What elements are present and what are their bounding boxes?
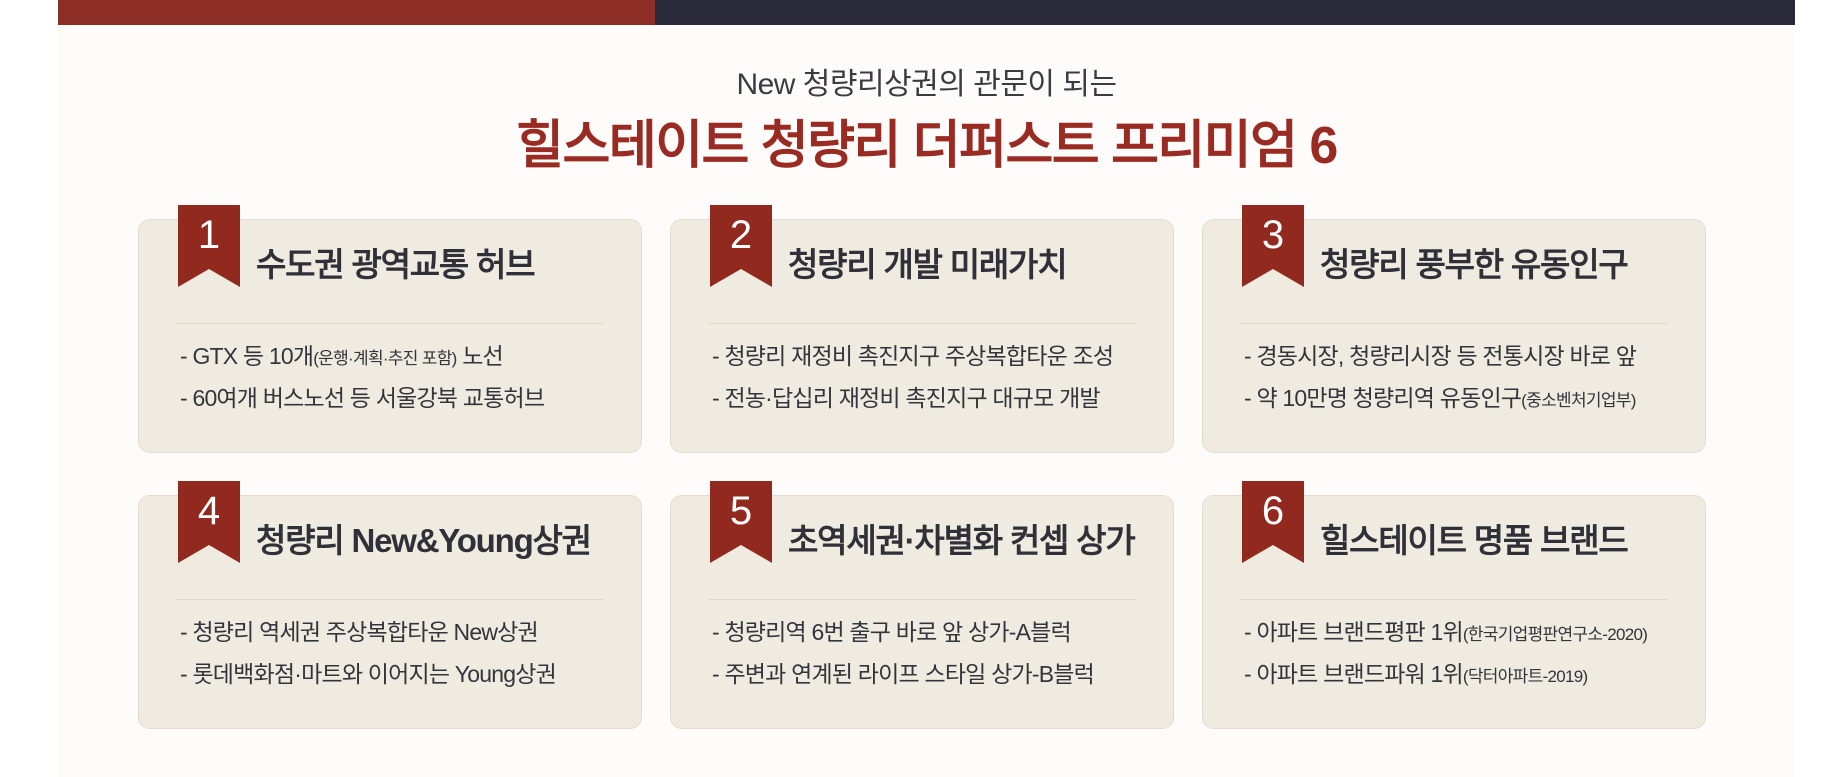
premium-card: 4청량리 New&Young상권- 청량리 역세권 주상복합타운 New상권- … [138, 481, 642, 729]
page-canvas: New 청량리상권의 관문이 되는 힐스테이트 청량리 더퍼스트 프리미엄 6 … [58, 25, 1795, 777]
card-body: - 아파트 브랜드평판 1위(한국기업평판연구소-2020)- 아파트 브랜드파… [1244, 621, 1682, 705]
card-body: - 청량리 재정비 촉진지구 주상복합타운 조성- 전농·답십리 재정비 촉진지… [712, 345, 1150, 429]
card-body: - GTX 등 10개(운행·계획·추진 포함) 노선- 60여개 버스노선 등… [180, 345, 618, 429]
bullet-main-text: - 아파트 브랜드평판 1위 [1244, 619, 1463, 645]
card-body: - 경동시장, 청량리시장 등 전통시장 바로 앞- 약 10만명 청량리역 유… [1244, 345, 1682, 429]
card-divider [1240, 599, 1668, 600]
card-title: 초역세권·차별화 컨셉 상가 [788, 523, 1135, 559]
top-bar-red-segment [58, 0, 655, 25]
bullet-main-text: - 청량리 역세권 주상복합타운 New상권 [180, 619, 538, 645]
card-bullet-line: - 경동시장, 청량리시장 등 전통시장 바로 앞 [1244, 345, 1682, 368]
ribbon-number: 4 [198, 491, 220, 531]
card-bullet-line: - 아파트 브랜드파워 1위(닥터아파트-2019) [1244, 663, 1682, 686]
bullet-note-text: (닥터아파트-2019) [1463, 667, 1588, 686]
card-divider [1240, 323, 1668, 324]
card-bullet-line: - 전농·답십리 재정비 촉진지구 대규모 개발 [712, 387, 1150, 410]
bullet-main-text: - 60여개 버스노선 등 서울강북 교통허브 [180, 385, 544, 411]
bullet-main-text: - 경동시장, 청량리시장 등 전통시장 바로 앞 [1244, 343, 1636, 369]
card-bullet-line: - 롯데백화점·마트와 이어지는 Young상권 [180, 663, 618, 686]
top-accent-bar [58, 0, 1795, 25]
card-divider [176, 599, 604, 600]
card-title: 청량리 New&Young상권 [256, 523, 591, 559]
card-bullet-line: - GTX 등 10개(운행·계획·추진 포함) 노선 [180, 345, 618, 368]
premium-card: 2청량리 개발 미래가치- 청량리 재정비 촉진지구 주상복합타운 조성- 전농… [670, 205, 1174, 453]
card-body: - 청량리역 6번 출구 바로 앞 상가-A블럭- 주변과 연계된 라이프 스타… [712, 621, 1150, 705]
bullet-main-text: - 전농·답십리 재정비 촉진지구 대규모 개발 [712, 385, 1100, 411]
bullet-note-text: (중소벤처기업부) [1521, 391, 1636, 410]
premium-card: 5초역세권·차별화 컨셉 상가- 청량리역 6번 출구 바로 앞 상가-A블럭-… [670, 481, 1174, 729]
page-title: 힐스테이트 청량리 더퍼스트 프리미엄 6 [58, 117, 1795, 177]
premium-card: 3청량리 풍부한 유동인구- 경동시장, 청량리시장 등 전통시장 바로 앞- … [1202, 205, 1706, 453]
card-bullet-line: - 청량리 역세권 주상복합타운 New상권 [180, 621, 618, 644]
bullet-note-text: (한국기업평판연구소-2020) [1463, 625, 1647, 644]
ribbon-number: 3 [1262, 215, 1284, 255]
bullet-main-text: - GTX 등 10개 [180, 343, 313, 369]
card-title: 청량리 개발 미래가치 [788, 247, 1066, 283]
ribbon-number: 6 [1262, 491, 1284, 531]
bullet-main-text: - 약 10만명 청량리역 유동인구 [1244, 385, 1521, 411]
top-bar-navy-segment [655, 0, 1795, 25]
bullet-main-text: - 청량리 재정비 촉진지구 주상복합타운 조성 [712, 343, 1113, 369]
card-divider [708, 323, 1136, 324]
card-title: 힐스테이트 명품 브랜드 [1320, 523, 1628, 559]
card-bullet-line: - 약 10만명 청량리역 유동인구(중소벤처기업부) [1244, 387, 1682, 410]
bullet-main-text: - 롯데백화점·마트와 이어지는 Young상권 [180, 661, 556, 687]
ribbon-number: 1 [198, 215, 220, 255]
ribbon-number: 5 [730, 491, 752, 531]
card-body: - 청량리 역세권 주상복합타운 New상권- 롯데백화점·마트와 이어지는 Y… [180, 621, 618, 705]
bullet-tail-text: 노선 [457, 343, 503, 369]
header-eyebrow: New 청량리상권의 관문이 되는 [58, 67, 1795, 103]
card-divider [176, 323, 604, 324]
header-block: New 청량리상권의 관문이 되는 힐스테이트 청량리 더퍼스트 프리미엄 6 [58, 25, 1795, 177]
premium-card: 6힐스테이트 명품 브랜드- 아파트 브랜드평판 1위(한국기업평판연구소-20… [1202, 481, 1706, 729]
card-divider [708, 599, 1136, 600]
card-title: 수도권 광역교통 허브 [256, 247, 534, 283]
card-bullet-line: - 60여개 버스노선 등 서울강북 교통허브 [180, 387, 618, 410]
bullet-main-text: - 청량리역 6번 출구 바로 앞 상가-A블럭 [712, 619, 1071, 645]
card-bullet-line: - 주변과 연계된 라이프 스타일 상가-B블럭 [712, 663, 1150, 686]
bullet-note-text: (운행·계획·추진 포함) [313, 349, 456, 368]
bullet-main-text: - 주변과 연계된 라이프 스타일 상가-B블럭 [712, 661, 1094, 687]
card-bullet-line: - 청량리 재정비 촉진지구 주상복합타운 조성 [712, 345, 1150, 368]
card-bullet-line: - 아파트 브랜드평판 1위(한국기업평판연구소-2020) [1244, 621, 1682, 644]
bullet-main-text: - 아파트 브랜드파워 1위 [1244, 661, 1463, 687]
card-bullet-line: - 청량리역 6번 출구 바로 앞 상가-A블럭 [712, 621, 1150, 644]
premium-card-grid: 1수도권 광역교통 허브- GTX 등 10개(운행·계획·추진 포함) 노선-… [138, 205, 1708, 729]
premium-card: 1수도권 광역교통 허브- GTX 등 10개(운행·계획·추진 포함) 노선-… [138, 205, 642, 453]
ribbon-number: 2 [730, 215, 752, 255]
card-title: 청량리 풍부한 유동인구 [1320, 247, 1628, 283]
